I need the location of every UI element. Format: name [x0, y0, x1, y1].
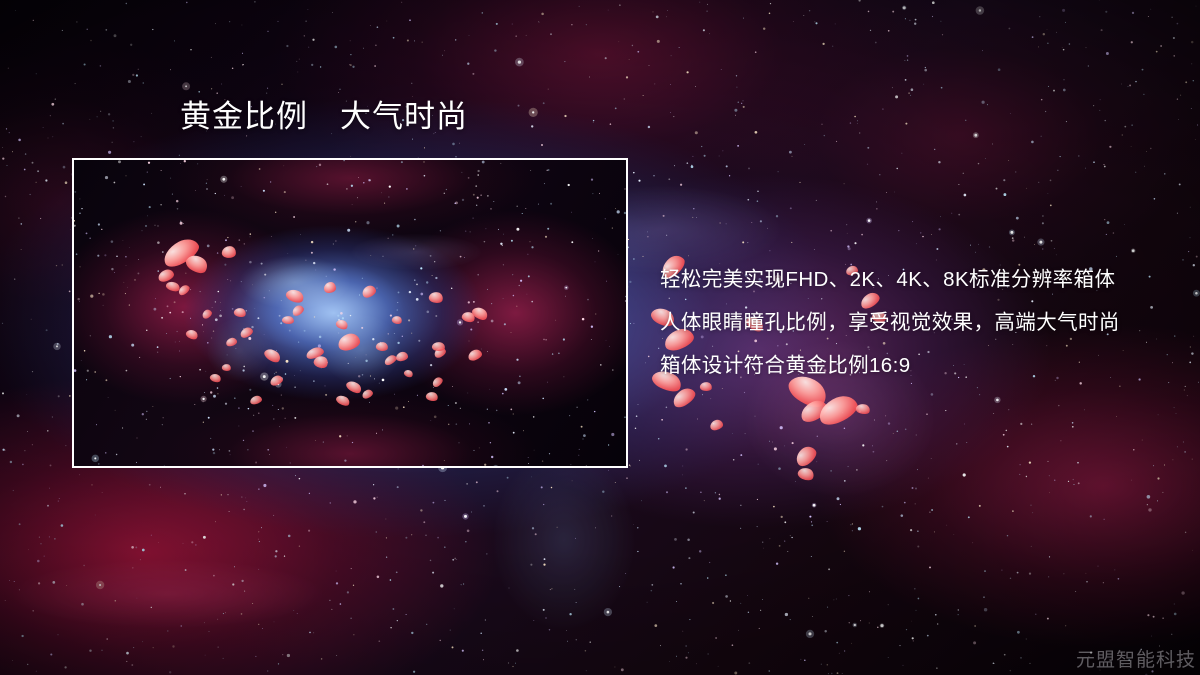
- petal: [855, 402, 871, 415]
- framed-nebula-wisps: [74, 160, 626, 466]
- page-title: 黄金比例 大气时尚: [180, 101, 468, 132]
- petal: [798, 397, 831, 425]
- petal: [709, 419, 724, 432]
- petal: [815, 391, 861, 428]
- framed-image: [72, 158, 628, 468]
- body-copy: 轻松完美实现FHD、2K、4K、8K标准分辨率箱体 人体眼睛瞳孔比例，享受视觉效…: [660, 258, 1120, 387]
- framed-image-content: [74, 160, 626, 466]
- body-line-3: 箱体设计符合黄金比例16:9: [660, 344, 1120, 387]
- slide-canvas: 黄金比例 大气时尚 轻松完美实现FHD、2K、4K、8K标准分辨率箱体 人体眼睛…: [0, 0, 1200, 675]
- body-line-2: 人体眼睛瞳孔比例，享受视觉效果，高端大气时尚: [660, 301, 1120, 344]
- petal: [796, 465, 815, 482]
- petal: [792, 443, 819, 469]
- body-line-1: 轻松完美实现FHD、2K、4K、8K标准分辨率箱体: [660, 258, 1120, 301]
- petal: [670, 385, 698, 410]
- watermark: 元盟智能科技: [1076, 651, 1196, 670]
